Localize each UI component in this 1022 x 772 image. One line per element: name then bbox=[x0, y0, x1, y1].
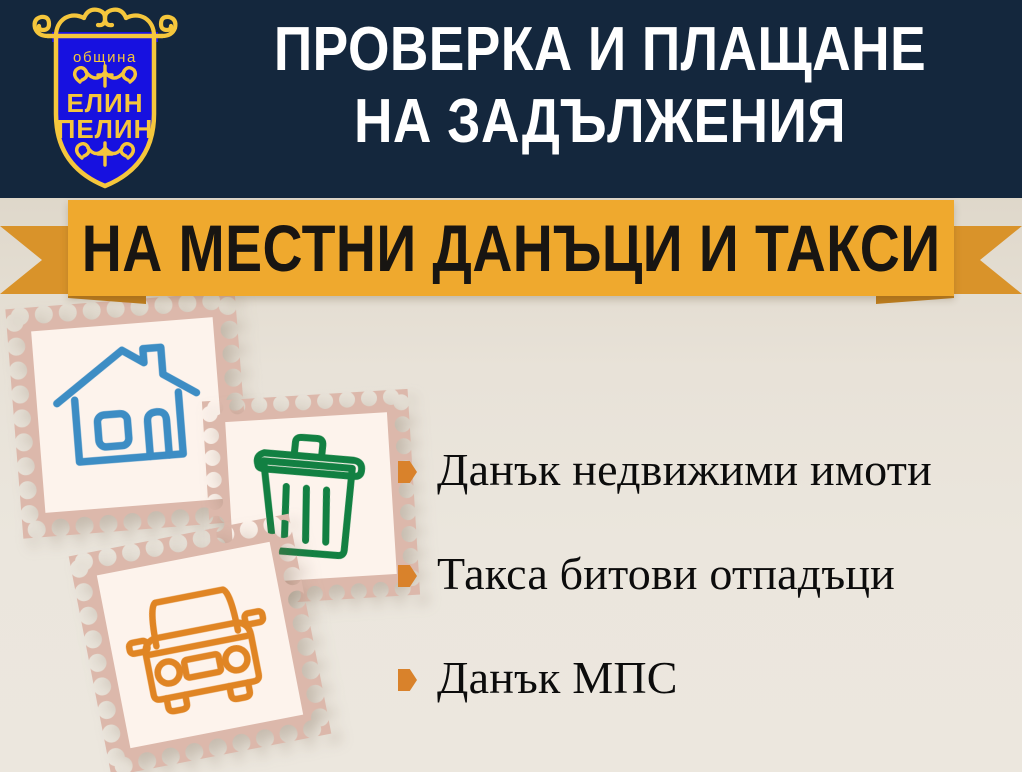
ribbon-label: НА МЕСТНИ ДАНЪЦИ И ТАКСИ bbox=[82, 215, 941, 281]
stamp-collage bbox=[0, 290, 430, 772]
logo-text-pelin: ПЕЛИН bbox=[57, 114, 154, 144]
stamp-car-svg bbox=[69, 514, 332, 772]
list-item-label: Данък недвижими имоти bbox=[437, 445, 932, 495]
list-item-label: Данък МПС bbox=[437, 653, 678, 703]
ribbon-band: НА МЕСТНИ ДАНЪЦИ И ТАКСИ bbox=[68, 200, 954, 296]
arrow-bullet-icon bbox=[398, 565, 417, 587]
logo-text-obshtina: община bbox=[73, 49, 137, 66]
arrow-bullet-icon bbox=[398, 669, 417, 691]
coat-of-arms-svg: община ЕЛИН ПЕЛИН bbox=[22, 6, 188, 192]
municipality-coat-of-arms-logo: община ЕЛИН ПЕЛИН bbox=[22, 6, 188, 192]
list-item-label: Такса битови отпадъци bbox=[437, 549, 895, 599]
subtitle-ribbon: НА МЕСТНИ ДАНЪЦИ И ТАКСИ bbox=[0, 196, 1022, 308]
tax-types-list: Данък недвижими имоти Такса битови отпад… bbox=[398, 418, 1018, 730]
list-item[interactable]: Данък МПС bbox=[398, 626, 1018, 730]
arrow-bullet-icon bbox=[398, 461, 417, 483]
list-item[interactable]: Такса битови отпадъци bbox=[398, 522, 1018, 626]
poster-canvas: община ЕЛИН ПЕЛИН bbox=[0, 0, 1022, 772]
list-item[interactable]: Данък недвижими имоти bbox=[398, 418, 1018, 522]
stamp-card-vehicle bbox=[69, 514, 332, 772]
poster-title: ПРОВЕРКА И ПЛАЩАНЕ НА ЗАДЪЛЖЕНИЯ bbox=[190, 14, 1010, 158]
title-line-2: НА ЗАДЪЛЖЕНИЯ bbox=[247, 86, 952, 158]
title-line-1: ПРОВЕРКА И ПЛАЩАНЕ bbox=[247, 14, 952, 86]
header-bar: община ЕЛИН ПЕЛИН bbox=[0, 0, 1022, 198]
